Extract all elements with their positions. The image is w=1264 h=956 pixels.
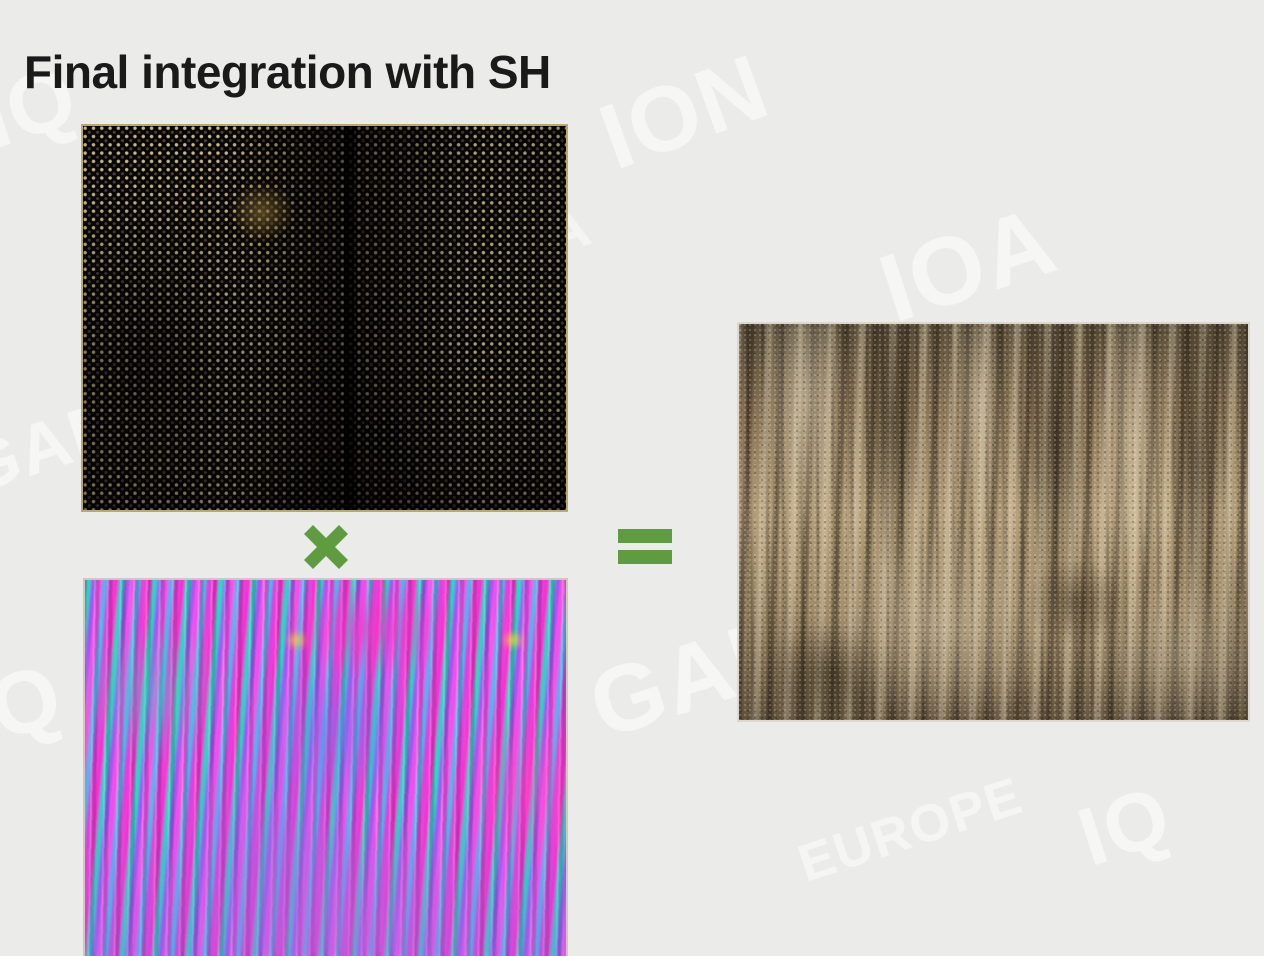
result-image bbox=[737, 322, 1250, 722]
sh-buffer-image bbox=[81, 124, 568, 512]
multiply-icon bbox=[300, 521, 352, 573]
watermark-text: IQ bbox=[1068, 768, 1183, 885]
watermark-text: IOA bbox=[867, 185, 1069, 344]
normal-map-image bbox=[83, 578, 568, 956]
result-vignette bbox=[739, 324, 1248, 720]
watermark-text: EUROPE bbox=[791, 766, 1030, 895]
slide-title: Final integration with SH bbox=[24, 47, 551, 98]
sh-shading-overlay bbox=[83, 126, 566, 510]
watermark-text: IQ bbox=[0, 643, 75, 770]
slide: IQ ION IOA GAMES GAMES GAMES IQ EUROPE I… bbox=[0, 0, 1264, 956]
equals-icon bbox=[616, 524, 674, 569]
watermark-text: ION bbox=[587, 34, 782, 191]
normal-map-blobs bbox=[85, 580, 566, 956]
